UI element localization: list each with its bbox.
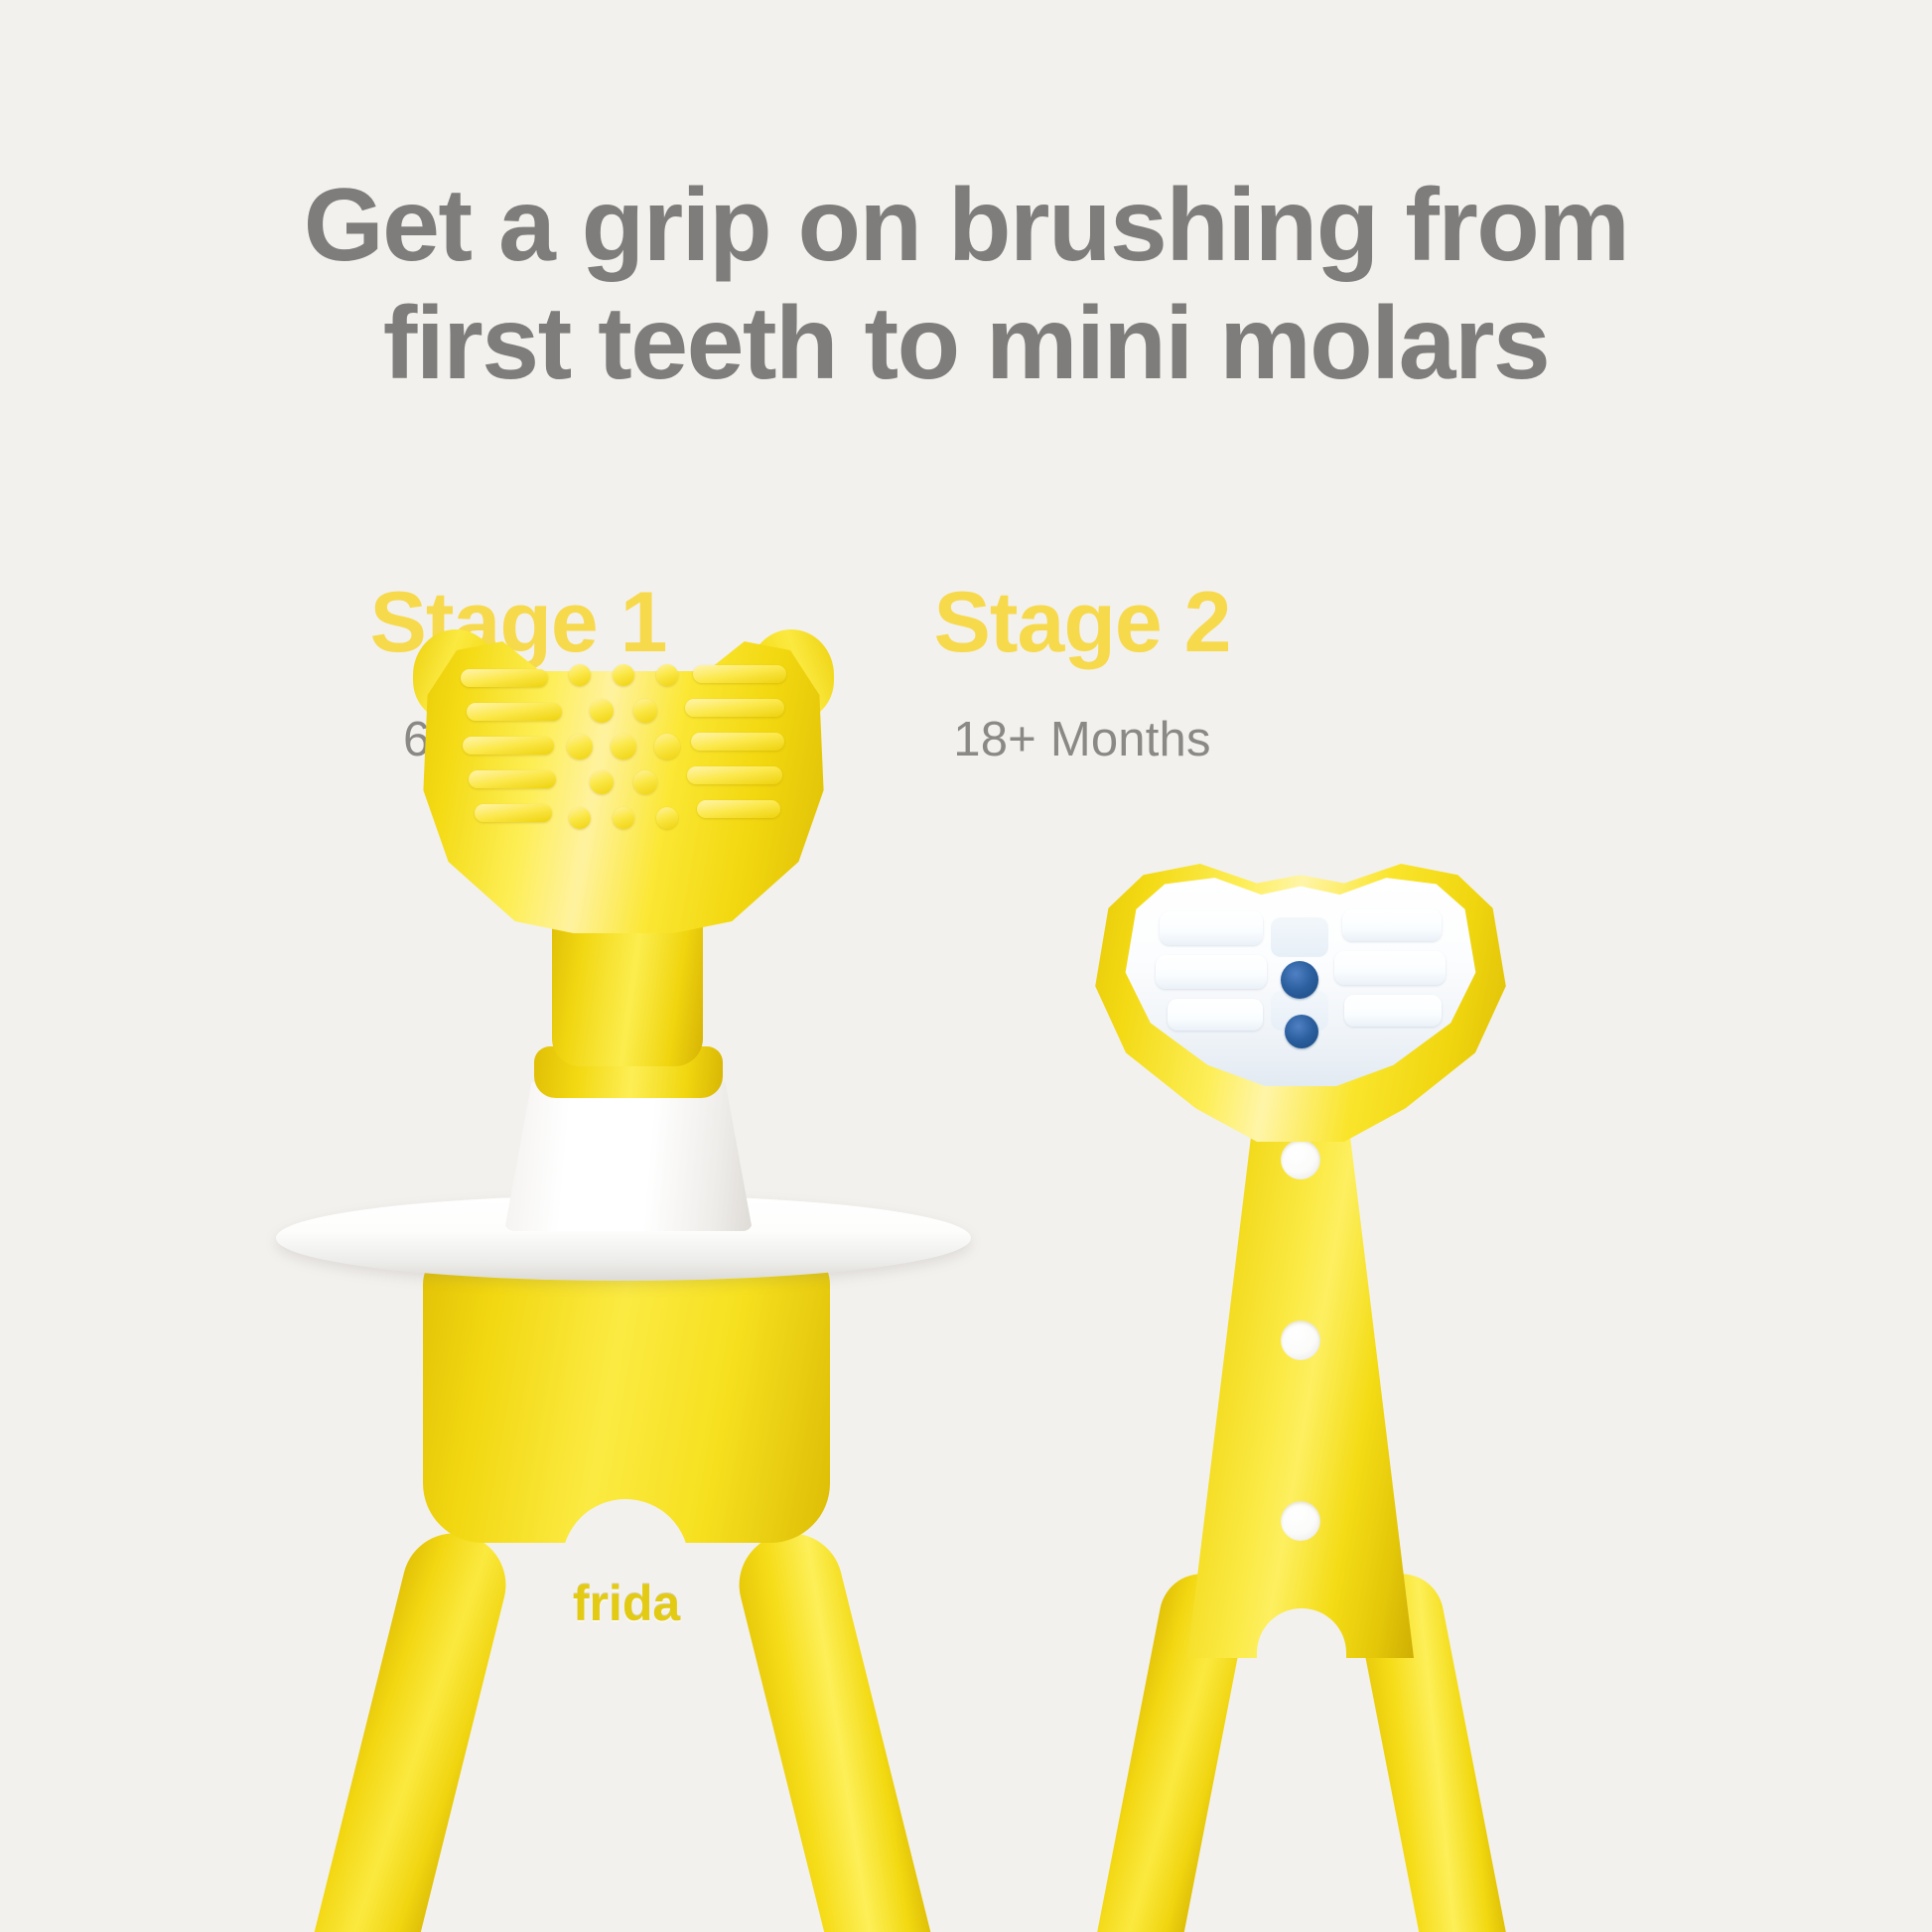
texture-ridge-left-2 — [467, 703, 562, 721]
texture-ridge-left-4 — [469, 770, 556, 788]
bristle-tuft-left-1 — [1160, 911, 1263, 945]
stage-2-leg-notch — [1257, 1608, 1346, 1817]
texture-nub-8 — [654, 734, 680, 759]
headline-line-1: Get a grip on brushing from — [0, 167, 1932, 285]
texture-nub-5 — [633, 699, 657, 723]
stage-2-label-group: Stage 2 18+ Months — [834, 576, 1330, 767]
stage-1-handle-leg-right — [729, 1522, 944, 1932]
texture-nub-3 — [656, 664, 678, 686]
texture-ridge-left-3 — [463, 737, 554, 755]
texture-ridge-right-3 — [691, 733, 784, 751]
texture-nub-2 — [613, 664, 634, 686]
texture-ridge-left-5 — [475, 804, 552, 822]
stage-2-product-image — [1023, 874, 1579, 1932]
bristle-tuft-right-2 — [1334, 951, 1446, 985]
texture-nub-4 — [590, 699, 614, 723]
texture-nub-10 — [633, 770, 657, 794]
bristle-tuft-left-2 — [1156, 955, 1267, 989]
page-headline: Get a grip on brushing from first teeth … — [0, 167, 1932, 402]
stage-1-handle-trunk — [423, 1245, 830, 1543]
product-comparison-canvas: Get a grip on brushing from first teeth … — [0, 0, 1932, 1932]
texture-nub-13 — [656, 807, 678, 829]
texture-ridge-left-1 — [461, 669, 548, 687]
bristle-tuft-right-1 — [1342, 909, 1442, 941]
texture-nub-9 — [590, 770, 614, 794]
texture-nub-1 — [569, 664, 591, 686]
stage-1-teether-head — [415, 635, 832, 933]
stage-2-age: 18+ Months — [834, 712, 1330, 767]
indicator-bristle-2 — [1285, 1015, 1318, 1048]
frida-brand-logo: frida — [532, 1575, 721, 1632]
texture-ridge-right-5 — [697, 800, 780, 818]
headline-line-2: first teeth to mini molars — [0, 285, 1932, 403]
stage-2-brush-head — [1082, 864, 1519, 1142]
stage-1-handle-leg-left — [301, 1522, 516, 1932]
bristle-tuft-right-3 — [1344, 995, 1442, 1027]
texture-nub-12 — [613, 807, 634, 829]
indicator-bristle-1 — [1281, 961, 1318, 999]
stage-2-grip-hole-2 — [1281, 1320, 1320, 1360]
bristle-tuft-left-3 — [1168, 999, 1263, 1031]
stage-1-product-image: frida — [298, 1003, 993, 1932]
texture-nub-11 — [569, 807, 591, 829]
texture-ridge-right-1 — [693, 665, 786, 683]
stage-1-shield-cone — [504, 1082, 753, 1231]
stage-2-title: Stage 2 — [834, 576, 1330, 670]
stage-2-grip-hole-3 — [1281, 1501, 1320, 1541]
texture-nub-6 — [567, 734, 593, 759]
stage-1-texture-nubs — [459, 659, 788, 844]
texture-ridge-right-2 — [685, 699, 784, 717]
stage-2-grip-hole-1 — [1281, 1140, 1320, 1179]
bristle-tuft-center-1 — [1271, 917, 1328, 957]
texture-ridge-right-4 — [687, 766, 782, 784]
texture-nub-7 — [611, 734, 636, 759]
